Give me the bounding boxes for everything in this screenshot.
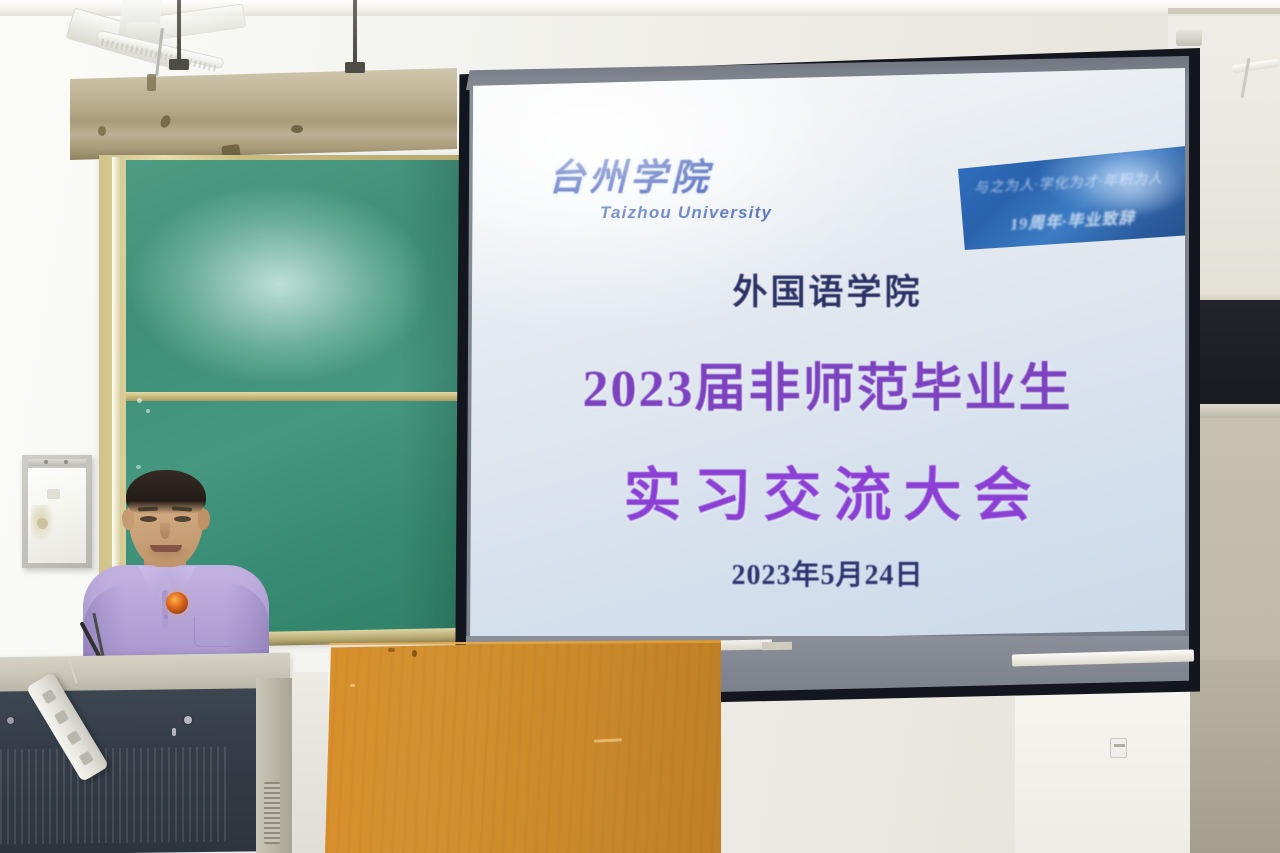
university-logo-en: Taizhou University <box>600 203 798 223</box>
power-socket <box>66 730 81 745</box>
podium-screw <box>184 716 192 724</box>
desk-scratch <box>350 684 355 687</box>
slide-decorative-banner: 与之为人·学化为才·年积为人 19周年·毕业致辞 <box>958 146 1185 250</box>
ceiling-edge-right <box>1168 8 1280 14</box>
screw-icon <box>64 460 68 464</box>
projector-mount-icon <box>1176 30 1202 46</box>
speaker-ear-right <box>198 509 210 530</box>
screw-icon <box>44 460 48 464</box>
control-box-sticker <box>47 489 60 499</box>
beam-nail <box>147 74 156 91</box>
podium-screw <box>7 717 14 724</box>
desk-blemish <box>388 648 395 652</box>
beam-knot <box>98 126 106 136</box>
desk-wood-grain <box>325 640 721 853</box>
power-socket <box>42 689 57 704</box>
power-socket <box>54 710 69 725</box>
podium-vent-slots <box>264 782 280 844</box>
wall-control-box-strip <box>28 459 86 466</box>
presentation-slide: 台州学院 Taizhou University 与之为人·学化为才·年积为人 1… <box>470 68 1185 644</box>
beam-clamp-left <box>169 59 189 70</box>
university-logo-cn: 台州学院 <box>548 160 798 197</box>
banner-slogan-line-2: 19周年·毕业致辞 <box>1009 201 1185 234</box>
desk-side-gap <box>292 672 328 853</box>
hanging-wooden-beam <box>70 68 457 160</box>
speaker-chin-shadow <box>142 549 190 562</box>
wall-outlet-icon <box>1110 738 1127 758</box>
desk-blemish <box>412 650 417 657</box>
chalkboard-divider-rail <box>126 392 460 401</box>
slide-date: 2023年5月24日 <box>470 553 1185 593</box>
chalk-mark <box>137 398 142 403</box>
speaker-eye-left <box>140 516 157 522</box>
shirt-button <box>164 615 168 619</box>
slide-title-line-1: 2023届非师范毕业生 <box>470 346 1185 421</box>
speaker-ear-left <box>122 509 134 530</box>
podium-panel-texture <box>0 747 230 845</box>
classroom-scene: 台州学院 Taizhou University 与之为人·学化为才·年积为人 1… <box>0 0 1280 853</box>
beam-clamp-right <box>345 62 365 73</box>
shirt-pocket <box>194 617 232 647</box>
wall-lower-shaded <box>1190 660 1280 853</box>
chalk-mark <box>146 409 150 413</box>
speaker-person <box>84 465 269 665</box>
slide-department: 外国语学院 <box>470 264 1185 315</box>
speaker-nose <box>160 523 170 539</box>
desk-corner-object-2 <box>762 642 792 651</box>
university-logo: 台州学院 Taizhou University <box>548 160 798 232</box>
beam-suspension-rod-right <box>353 0 357 68</box>
speaker-eye-right <box>174 516 191 522</box>
podium-marking <box>172 728 176 736</box>
control-box-smudge <box>37 518 48 529</box>
beam-knot <box>291 125 303 133</box>
power-socket <box>79 751 94 766</box>
wall-alcove <box>1186 300 1280 408</box>
beam-suspension-rod-left <box>177 0 181 65</box>
slide-title-line-2: 实习交流大会 <box>470 448 1185 532</box>
microphone-icon <box>166 592 188 614</box>
